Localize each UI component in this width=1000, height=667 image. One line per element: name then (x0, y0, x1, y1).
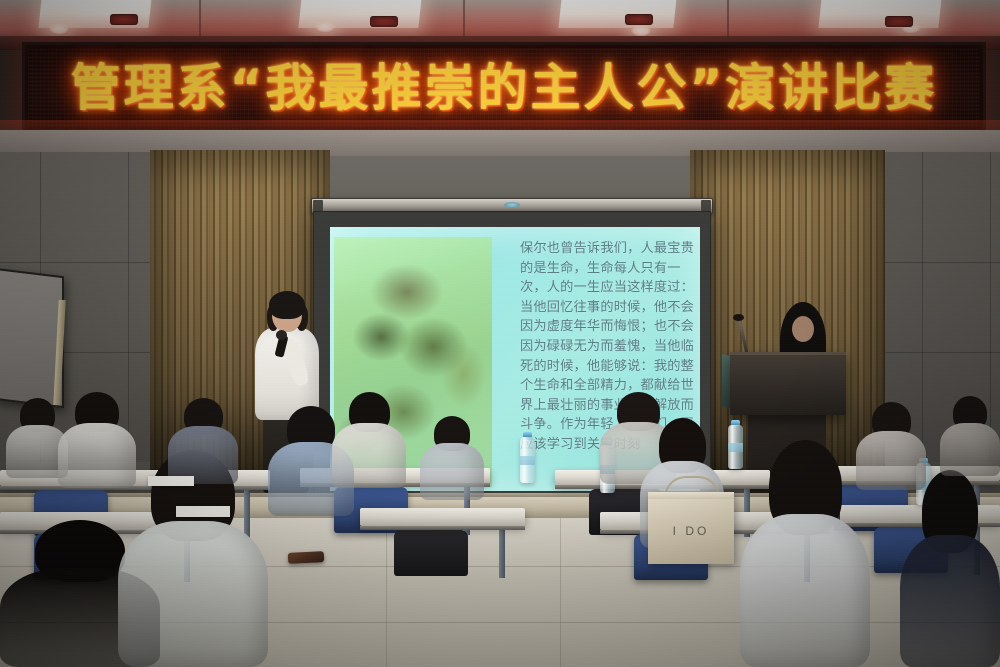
desk-edge (360, 526, 525, 530)
ceiling-vent (885, 16, 913, 27)
ceiling-downlight (314, 20, 336, 33)
audience-desk[interactable] (360, 508, 525, 526)
led-banner: 管理系“我最推崇的主人公”演讲比赛 (22, 42, 986, 136)
audience-torso (420, 443, 484, 500)
ceiling-vent (625, 14, 653, 25)
floor-grout (386, 518, 387, 667)
audience-torso (118, 521, 268, 667)
screen-hub (504, 202, 520, 208)
audience-member (940, 396, 1000, 476)
audience-torso (940, 423, 1000, 476)
led-banner-text: 管理系“我最推崇的主人公”演讲比赛 (71, 63, 938, 115)
audience-member-foreground (740, 440, 870, 667)
ceiling-downlight (48, 22, 70, 35)
podium-mic-head (733, 314, 744, 321)
ceiling-vent (110, 14, 138, 25)
desk-leg (499, 526, 505, 578)
wall-tile-seam (0, 262, 172, 263)
audience-member-foreground (900, 470, 1000, 667)
wall-tile-seam (872, 262, 1000, 263)
podium-top (730, 352, 846, 415)
screen-endcap-left (313, 200, 323, 211)
audience-member (420, 416, 484, 500)
ceiling-vent (370, 16, 398, 27)
audience-member (332, 392, 406, 488)
wall-tile-seam (872, 352, 1000, 353)
shopping-bag-fold (648, 492, 734, 499)
presenter-hair (269, 291, 305, 319)
paper-sheet[interactable] (176, 506, 230, 517)
podium-speaker-face (792, 316, 814, 342)
ceiling-panel-light (558, 0, 676, 28)
ceiling-seam (727, 0, 729, 40)
microphone-head (276, 330, 287, 340)
screen-endcap-right (701, 200, 711, 211)
ceiling-panel-light (818, 0, 941, 28)
audience-torso (332, 423, 406, 488)
audience-chair[interactable] (394, 530, 468, 576)
phone-on-desk[interactable] (288, 551, 325, 564)
ceiling-seam (463, 0, 465, 40)
audience-member-plaid (168, 398, 238, 484)
floor-grout (560, 518, 561, 667)
audience-torso (900, 535, 1000, 667)
shopping-bag-label: I DO (648, 524, 734, 538)
paper-sheet[interactable] (148, 476, 194, 486)
audience-torso (740, 514, 870, 667)
led-banner-face: 管理系“我最推崇的主人公”演讲比赛 (28, 48, 980, 130)
bottle-label (520, 456, 535, 465)
lecture-hall-photo: 管理系“我最推崇的主人公”演讲比赛 保尔也曾告诉我们，人最宝贵的是生命，生命每人… (0, 0, 1000, 667)
ceiling-seam (199, 0, 201, 40)
